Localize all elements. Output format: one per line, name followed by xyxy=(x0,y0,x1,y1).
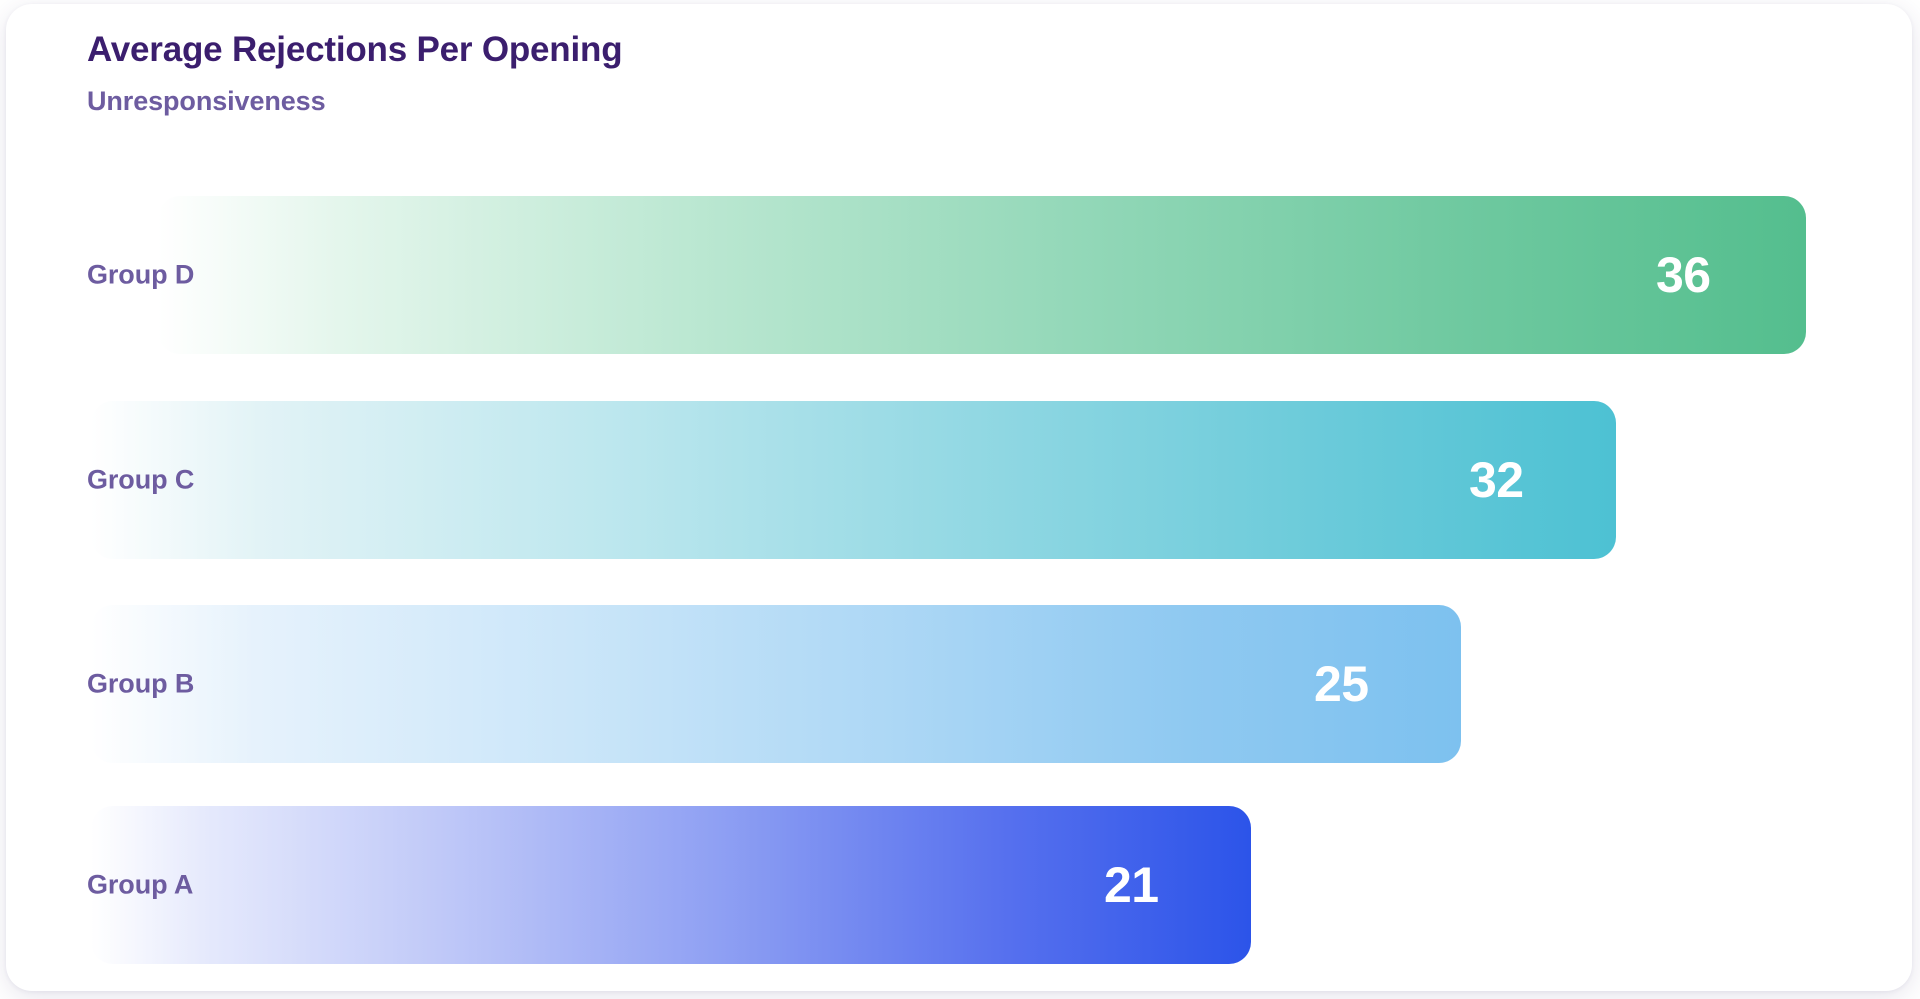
bar-row-group-b: Group B 25 xyxy=(6,605,1912,763)
bar-value-group-c: 32 xyxy=(1469,451,1524,509)
bar-label-group-b: Group B xyxy=(87,669,194,700)
bar-label-group-a: Group A xyxy=(87,870,193,901)
bar-label-group-d: Group D xyxy=(87,260,194,291)
bar-value-group-a: 21 xyxy=(1104,856,1159,914)
bar-row-group-c: Group C 32 xyxy=(6,401,1912,559)
chart-card: Average Rejections Per Opening Unrespons… xyxy=(6,4,1912,991)
bar-value-group-b: 25 xyxy=(1314,655,1369,713)
bar-row-group-a: Group A 21 xyxy=(6,806,1912,964)
bar-group-a[interactable] xyxy=(91,806,1251,964)
bar-group-b[interactable] xyxy=(91,605,1461,763)
bar-row-group-d: Group D 36 xyxy=(6,196,1912,354)
bar-group-c[interactable] xyxy=(91,401,1616,559)
bar-label-group-c: Group C xyxy=(87,465,194,496)
bar-group-d[interactable] xyxy=(158,196,1806,354)
bar-value-group-d: 36 xyxy=(1656,246,1711,304)
bar-chart-plot-area: Group D 36 Group C 32 Group B 25 Group A… xyxy=(6,4,1912,991)
